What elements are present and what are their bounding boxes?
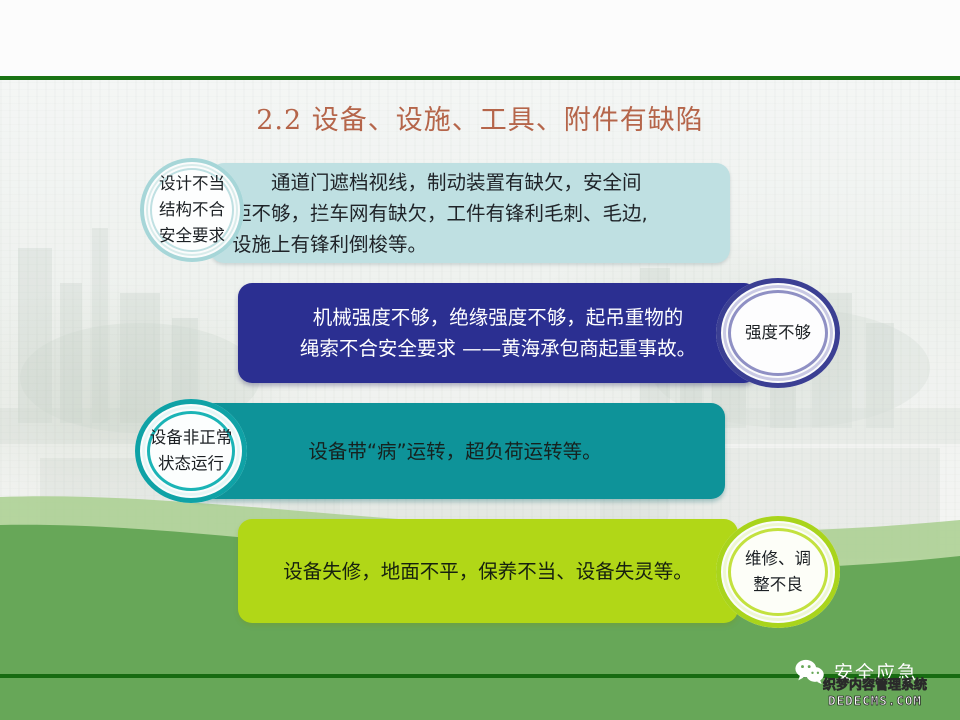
slide-canvas: 2.2 设备、设施、工具、附件有缺陷 通道门遮档视线，制动装置有缺欠，安全间 距… <box>0 0 960 720</box>
footer-account-name: 安全应急 <box>834 658 918 685</box>
badge-label-2: 强度不够 <box>745 320 811 346</box>
content-bar-1: 通道门遮档视线，制动装置有缺欠，安全间 距不够，拦车网有缺欠，工件有锋利毛刺、毛… <box>210 163 730 263</box>
content-bar-2: 机械强度不够，绝缘强度不够，起吊重物的 绳索不合安全要求 ——黄海承包商起重事故… <box>238 283 758 383</box>
top-green-rule <box>0 76 960 80</box>
wechat-icon <box>795 659 825 685</box>
content-bar-3: 设备带“病”运转，超负荷运转等。 <box>185 403 725 499</box>
content-text-3: 设备带“病”运转，超负荷运转等。 <box>185 436 725 467</box>
top-white-band <box>0 0 960 76</box>
content-text-4: 设备失修，地面不平，保养不当、设备失灵等。 <box>238 556 738 587</box>
badge-circle-1[interactable]: 设计不当 结构不合 安全要求 <box>140 158 244 262</box>
content-text-2: 机械强度不够，绝缘强度不够，起吊重物的 绳索不合安全要求 ——黄海承包商起重事故… <box>238 302 758 364</box>
badge-circle-3[interactable]: 设备非正常 状态运行 <box>135 399 247 503</box>
badge-circle-2[interactable]: 强度不够 <box>716 278 840 388</box>
badge-label-4: 维修、调 整不良 <box>745 546 811 598</box>
badge-label-1: 设计不当 结构不合 安全要求 <box>159 171 225 249</box>
badge-label-3: 设备非正常 状态运行 <box>150 425 233 477</box>
badge-circle-4[interactable]: 维修、调 整不良 <box>716 516 840 628</box>
content-bar-4: 设备失修，地面不平，保养不当、设备失灵等。 <box>238 519 738 623</box>
content-text-1: 通道门遮档视线，制动装置有缺欠，安全间 距不够，拦车网有缺欠，工件有锋利毛刺、毛… <box>210 167 662 260</box>
footer-account[interactable]: 安全应急 <box>795 658 918 685</box>
page-title: 2.2 设备、设施、工具、附件有缺陷 <box>0 98 960 137</box>
